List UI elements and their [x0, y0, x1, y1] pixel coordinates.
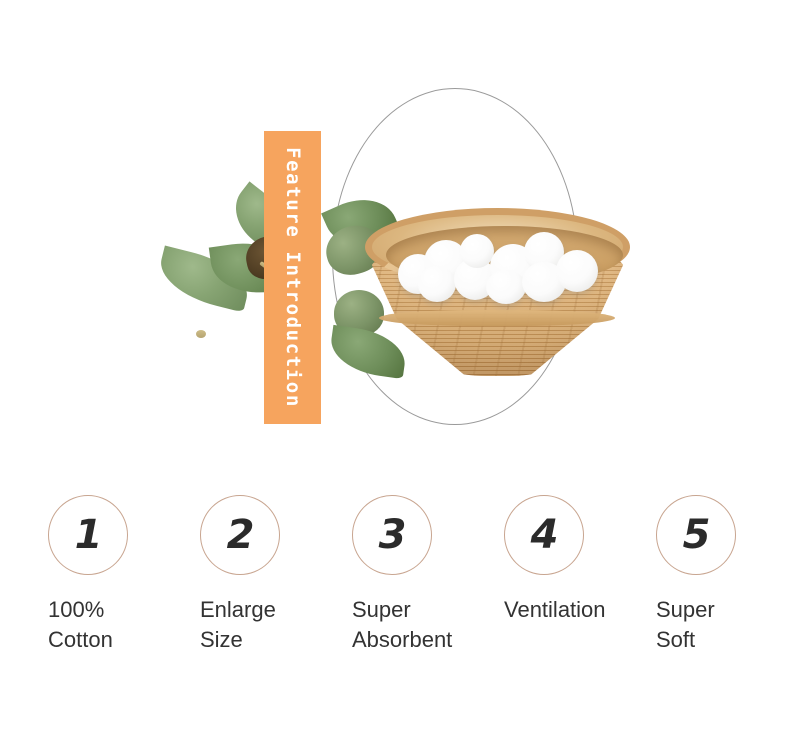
feature-item-5[interactable]: 5 Super Soft	[608, 495, 760, 655]
feature-badge-5: 5	[656, 495, 736, 575]
feature-item-4[interactable]: 4 Ventilation	[456, 495, 608, 625]
feature-label-3: Super Absorbent	[304, 595, 456, 655]
feature-badge-4: 4	[504, 495, 584, 575]
feature-number-2: 2	[227, 515, 254, 555]
feature-list: 1 100% Cotton 2 Enlarge Size 3 Super Abs…	[0, 495, 790, 695]
plant-stem	[196, 330, 206, 338]
feature-number-1: 1	[75, 515, 102, 555]
feature-number-3: 3	[379, 515, 406, 555]
hero-section: Feature Introduction	[0, 0, 790, 480]
feature-badge-3: 3	[352, 495, 432, 575]
feature-item-3[interactable]: 3 Super Absorbent	[304, 495, 456, 655]
feature-introduction-banner-label: Feature Introduction	[264, 131, 321, 424]
feature-label-2: Enlarge Size	[152, 595, 304, 655]
feature-number-4: 4	[531, 515, 558, 555]
feature-label-1: 100% Cotton	[0, 595, 152, 655]
cotton-balls	[398, 232, 598, 304]
feature-badge-2: 2	[200, 495, 280, 575]
feature-number-5: 5	[683, 515, 710, 555]
feature-label-4: Ventilation	[456, 595, 608, 625]
basket-band	[379, 310, 615, 326]
feature-label-5: Super Soft	[608, 595, 760, 655]
feature-item-2[interactable]: 2 Enlarge Size	[152, 495, 304, 655]
feature-introduction-banner: Feature Introduction	[264, 131, 321, 424]
feature-item-1[interactable]: 1 100% Cotton	[0, 495, 152, 655]
feature-badge-1: 1	[48, 495, 128, 575]
product-photo	[150, 180, 630, 410]
